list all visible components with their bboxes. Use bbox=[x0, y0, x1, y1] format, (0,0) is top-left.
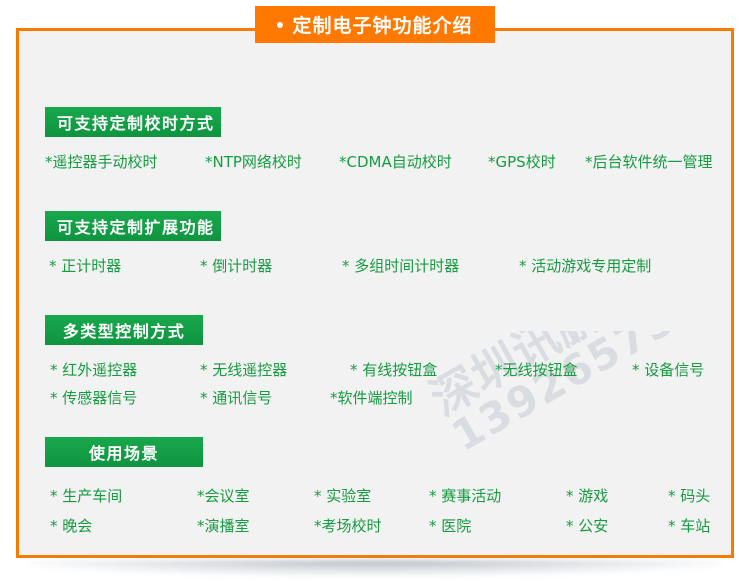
feature-item: * 车站 bbox=[668, 515, 710, 536]
feature-item: * 通讯信号 bbox=[200, 387, 272, 408]
feature-item: * 码头 bbox=[668, 485, 710, 506]
section-header-control-methods: 多类型控制方式 bbox=[45, 315, 203, 345]
section-header-extension-functions: 可支持定制扩展功能 bbox=[45, 211, 221, 241]
feature-item: * 传感器信号 bbox=[50, 387, 137, 408]
feature-item: * 公安 bbox=[566, 515, 608, 536]
feature-item: *会议室 bbox=[197, 485, 250, 506]
feature-item: *遥控器手动校时 bbox=[45, 151, 158, 172]
page-title: 定制电子钟功能介绍 bbox=[292, 11, 472, 38]
feature-item: * 生产车间 bbox=[50, 485, 122, 506]
feature-item: * 无线遥控器 bbox=[200, 359, 287, 380]
section-header-label: 多类型控制方式 bbox=[63, 318, 186, 342]
feature-item: * 游戏 bbox=[566, 485, 608, 506]
feature-item: *软件端控制 bbox=[330, 387, 413, 408]
section-header-label: 可支持定制校时方式 bbox=[57, 110, 215, 134]
feature-item: * 正计时器 bbox=[49, 255, 121, 276]
feature-item: * 医院 bbox=[429, 515, 471, 536]
feature-item: * 多组时间计时器 bbox=[342, 255, 459, 276]
feature-item: * 倒计时器 bbox=[200, 255, 272, 276]
feature-item: *CDMA自动校时 bbox=[339, 151, 452, 172]
page-stage: 深圳讯鹏 13926575588 可支持定制校时方式*遥控器手动校时*NTP网络… bbox=[0, 0, 750, 580]
section-header-timing-methods: 可支持定制校时方式 bbox=[45, 107, 221, 137]
feature-panel: 深圳讯鹏 13926575588 可支持定制校时方式*遥控器手动校时*NTP网络… bbox=[16, 28, 734, 558]
feature-item: * 赛事活动 bbox=[429, 485, 501, 506]
title-banner: 定制电子钟功能介绍 bbox=[255, 6, 495, 43]
bullet-dot-icon bbox=[277, 22, 283, 28]
feature-item: *GPS校时 bbox=[488, 151, 556, 172]
feature-content: 可支持定制校时方式*遥控器手动校时*NTP网络校时*CDMA自动校时*GPS校时… bbox=[19, 31, 731, 555]
feature-item: * 实验室 bbox=[314, 485, 371, 506]
section-header-usage-scenarios: 使用场景 bbox=[45, 437, 203, 467]
feature-item: *后台软件统一管理 bbox=[585, 151, 713, 172]
feature-item: * 活动游戏专用定制 bbox=[519, 255, 651, 276]
feature-item: *无线按钮盒 bbox=[495, 359, 578, 380]
feature-item: * 晚会 bbox=[50, 515, 92, 536]
feature-item: *演播室 bbox=[197, 515, 250, 536]
section-header-label: 使用场景 bbox=[89, 440, 159, 464]
feature-item: * 有线按钮盒 bbox=[350, 359, 437, 380]
section-header-label: 可支持定制扩展功能 bbox=[57, 214, 215, 238]
feature-item: * 红外遥控器 bbox=[50, 359, 137, 380]
panel-shadow bbox=[30, 560, 720, 576]
feature-item: *考场校时 bbox=[314, 515, 382, 536]
feature-item: * 设备信号 bbox=[632, 359, 704, 380]
feature-item: *NTP网络校时 bbox=[205, 151, 302, 172]
